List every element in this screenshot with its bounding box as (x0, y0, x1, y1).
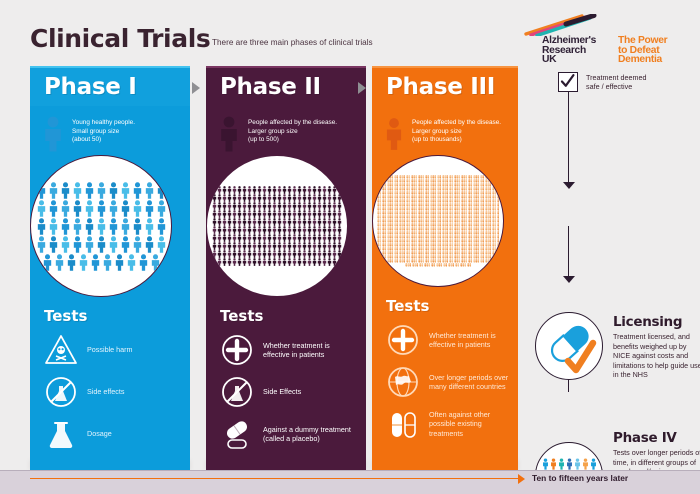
person-icon (84, 236, 95, 253)
phase-3-who-line-2: Larger group size (412, 128, 501, 137)
person-icon (550, 458, 557, 470)
person-icon (60, 182, 71, 199)
phase-1-group-circle (30, 155, 172, 297)
phase-3-who-line-3: (up to thousands) (412, 136, 501, 145)
person-icon (132, 236, 143, 253)
person-icon (126, 254, 137, 271)
person-icon (84, 200, 95, 217)
person-icon (48, 236, 59, 253)
phase-2-title: Phase II (220, 74, 321, 100)
person-icon (96, 236, 107, 253)
person-icon (566, 458, 573, 470)
phase-3-group-circle (372, 155, 504, 287)
person-icon (558, 458, 565, 470)
person-icon (337, 210, 342, 218)
person-icon (377, 179, 379, 183)
person-icon (42, 116, 64, 152)
phase-1-test-label-2: Side effects (87, 387, 124, 396)
person-icon (337, 250, 342, 258)
phase-1-participants-text: Young healthy people. Small group size (… (72, 116, 135, 152)
person-icon (96, 182, 107, 199)
person-icon (72, 236, 83, 253)
phase-column-2: Phase II People affected by the disease.… (206, 66, 366, 472)
person-icon (66, 254, 77, 271)
phase-1-who-line-3: (about 50) (72, 136, 135, 145)
phase-2-who-line-1: People affected by the disease. (248, 119, 337, 128)
person-icon (590, 458, 597, 470)
timeline-arrow-line (30, 478, 520, 479)
checkbox-checked-icon[interactable] (558, 72, 578, 92)
brand-logo: Alzheimer's Research UK The Power to Def… (518, 14, 693, 60)
phase-2-test-label-1: Whether treatment is effective in patien… (263, 341, 358, 360)
phase-1-test-item-2: Side effects (30, 371, 190, 413)
person-icon (494, 251, 496, 255)
person-icon (497, 251, 499, 255)
person-icon (150, 254, 161, 271)
person-icon (114, 254, 125, 271)
person-icon (48, 200, 59, 217)
person-icon (377, 255, 379, 259)
person-icon (144, 218, 155, 235)
person-icon (494, 175, 496, 179)
person-icon (54, 254, 65, 271)
person-icon (84, 182, 95, 199)
person-icon (48, 218, 59, 235)
footer-timeline-label: Ten to fifteen years later (532, 473, 628, 483)
person-icon (96, 200, 107, 217)
person-icon (337, 194, 342, 202)
logo-wordmark: Alzheimer's Research UK (542, 36, 596, 65)
phase-3-participants: People affected by the disease. Larger g… (372, 106, 518, 152)
person-icon (492, 179, 494, 183)
licensing-body: Treatment licensed, and benefits weighed… (613, 332, 700, 380)
phase-1-title: Phase I (44, 74, 137, 100)
person-icon (42, 254, 53, 271)
phase-3-people-grid (376, 175, 500, 267)
person-icon (108, 182, 119, 199)
person-icon (36, 218, 47, 235)
logo-tagline-line-3: Dementia (618, 55, 667, 65)
person-icon (494, 183, 496, 187)
person-icon (379, 259, 381, 263)
person-icon (382, 179, 384, 183)
phase-1-participants: Young healthy people. Small group size (… (30, 106, 190, 152)
plus-circle-icon (386, 323, 420, 357)
arrow-down-icon (563, 276, 575, 283)
person-icon (108, 236, 119, 253)
phase-3-tests-heading: Tests (386, 297, 518, 315)
phase-1-header: Phase I (30, 66, 190, 106)
person-icon (497, 183, 499, 187)
pill-tick-icon (535, 312, 603, 380)
person-icon (72, 218, 83, 235)
person-icon (60, 236, 71, 253)
connector-line-1 (568, 92, 569, 184)
person-icon (36, 182, 47, 199)
phase-3-title: Phase III (386, 74, 495, 100)
arrow-down-icon (563, 182, 575, 189)
person-icon (379, 175, 381, 179)
person-icon (120, 218, 131, 235)
phase-2-test-item-3: Against a dummy treatment (called a plac… (206, 413, 366, 455)
phase-3-participants-text: People affected by the disease. Larger g… (412, 116, 501, 152)
person-icon (48, 182, 59, 199)
person-icon (60, 218, 71, 235)
phase-2-group-circle (206, 155, 348, 297)
phase-3-circle-wrap (372, 155, 518, 287)
person-icon (132, 182, 143, 199)
person-icon (494, 255, 496, 259)
phase-1-test-item-3: Dosage (30, 413, 190, 455)
treatment-approved-status: Treatment deemed safe / effective (558, 72, 646, 92)
licensing-heading: Licensing (613, 314, 700, 330)
person-icon (72, 200, 83, 217)
person-icon (120, 236, 131, 253)
phase-column-3: Phase III People affected by the disease… (372, 66, 518, 472)
person-icon (494, 259, 496, 263)
person-icon (497, 175, 499, 179)
phase-1-to-2-arrow-icon (192, 82, 200, 94)
person-icon (494, 179, 496, 183)
person-icon (489, 259, 491, 263)
person-icon (120, 200, 131, 217)
phase4-heading: Phase IV (613, 430, 700, 446)
person-icon (156, 236, 167, 253)
person-icon (78, 254, 89, 271)
person-icon (377, 187, 379, 191)
person-icon (132, 200, 143, 217)
person-icon (497, 187, 499, 191)
person-icon (108, 218, 119, 235)
connector-line-2 (568, 226, 569, 278)
person-icon (337, 234, 342, 242)
person-icon (90, 254, 101, 271)
globe-icon (386, 365, 420, 399)
swoosh-icon (524, 14, 600, 36)
phase-1-who-line-2: Small group size (72, 128, 135, 137)
phase-2-circle-wrap (206, 155, 366, 297)
person-icon (36, 236, 47, 253)
check-line-1: Treatment deemed (586, 73, 646, 82)
person-icon (102, 254, 113, 271)
phase-2-to-3-arrow-icon (358, 82, 366, 94)
phase-3-test-item-1: Whether treatment is effective in patien… (372, 319, 518, 361)
person-icon (379, 255, 381, 259)
person-icon (337, 202, 342, 210)
capsules-icon (386, 407, 420, 441)
person-icon (36, 200, 47, 217)
phase-3-test-item-3: Often against other possible existing tr… (372, 403, 518, 445)
person-icon (582, 458, 589, 470)
phase-2-participants-text: People affected by the disease. Larger g… (248, 116, 337, 152)
logo-wordmark-line-3: UK (542, 55, 596, 65)
page-subtitle: There are three main phases of clinical … (212, 38, 373, 47)
plus-circle-icon (220, 333, 254, 367)
person-icon (156, 218, 167, 235)
page-title: Clinical Trials (30, 24, 210, 53)
phase-2-participants: People affected by the disease. Larger g… (206, 106, 366, 152)
person-icon (497, 259, 499, 263)
person-icon (337, 218, 342, 226)
person-icon (132, 218, 143, 235)
person-icon (489, 175, 491, 179)
phase-2-header: Phase II (206, 66, 366, 106)
phase-3-who-line-1: People affected by the disease. (412, 119, 501, 128)
phase-3-test-label-3: Often against other possible existing tr… (429, 410, 510, 438)
person-icon (379, 179, 381, 183)
phase-2-tests-heading: Tests (220, 307, 366, 325)
person-icon (337, 242, 342, 250)
person-icon (337, 186, 342, 194)
person-icon (497, 247, 499, 251)
person-icon (497, 255, 499, 259)
person-icon (96, 218, 107, 235)
person-icon (84, 218, 95, 235)
person-icon (377, 251, 379, 255)
person-icon (377, 175, 379, 179)
no-side-effects-icon (44, 375, 78, 409)
phase-2-test-item-2: Side Effects (206, 371, 366, 413)
treatment-approved-text: Treatment deemed safe / effective (586, 72, 646, 92)
phase-3-test-label-1: Whether treatment is effective in patien… (429, 331, 510, 350)
pills-icon (220, 417, 254, 451)
arrow-right-icon (518, 474, 525, 484)
person-icon (492, 259, 494, 263)
licensing-block: Licensing Treatment licensed, and benefi… (613, 314, 700, 380)
person-icon (574, 458, 581, 470)
phase-1-people-grid (35, 182, 167, 271)
logo-tagline: The Power to Defeat Dementia (618, 36, 667, 65)
person-icon (108, 200, 119, 217)
phase-1-circle-wrap (30, 155, 190, 297)
person-icon (384, 116, 404, 152)
person-icon (469, 263, 471, 267)
person-icon (144, 200, 155, 217)
person-icon (377, 259, 379, 263)
phase-2-people-grid (210, 186, 344, 266)
check-line-2: safe / effective (586, 82, 646, 91)
person-icon (138, 254, 149, 271)
person-icon (384, 175, 386, 179)
phase-1-test-label-1: Possible harm (87, 345, 133, 354)
phase-2-who-line-3: (up to 500) (248, 136, 337, 145)
person-icon (382, 175, 384, 179)
phase-2-test-label-2: Side Effects (263, 387, 301, 396)
person-icon (120, 182, 131, 199)
phase-2-who-line-2: Larger group size (248, 128, 337, 137)
person-icon (492, 255, 494, 259)
person-icon (337, 226, 342, 234)
person-icon (60, 200, 71, 217)
person-icon (542, 458, 549, 470)
phase-1-tests-heading: Tests (44, 307, 190, 325)
person-icon (218, 116, 240, 152)
phase-1-who-line-1: Young healthy people. (72, 119, 135, 128)
phase-1-test-item-1: Possible harm (30, 329, 190, 371)
phase-column-1: Phase I Young healthy people. Small grou… (30, 66, 190, 472)
flask-icon (44, 417, 78, 451)
person-icon (377, 183, 379, 187)
outcome-column: Treatment deemed safe / effective Licens… (525, 66, 700, 472)
person-icon (144, 236, 155, 253)
phase-3-test-label-2: Over longer periods over many different … (429, 373, 510, 392)
no-side-effects-icon (220, 375, 254, 409)
person-icon (337, 258, 342, 266)
person-icon (497, 179, 499, 183)
person-icon (156, 182, 167, 199)
person-icon (144, 182, 155, 199)
phase-1-test-label-3: Dosage (87, 429, 112, 438)
person-icon (382, 259, 384, 263)
phase-2-test-item-1: Whether treatment is effective in patien… (206, 329, 366, 371)
phase-3-test-item-2: Over longer periods over many different … (372, 361, 518, 403)
person-icon (72, 182, 83, 199)
hazard-triangle-icon (44, 333, 78, 367)
person-icon (156, 200, 167, 217)
phase-2-test-label-3: Against a dummy treatment (called a plac… (263, 425, 358, 444)
person-icon (492, 175, 494, 179)
phase-3-header: Phase III (372, 66, 518, 106)
